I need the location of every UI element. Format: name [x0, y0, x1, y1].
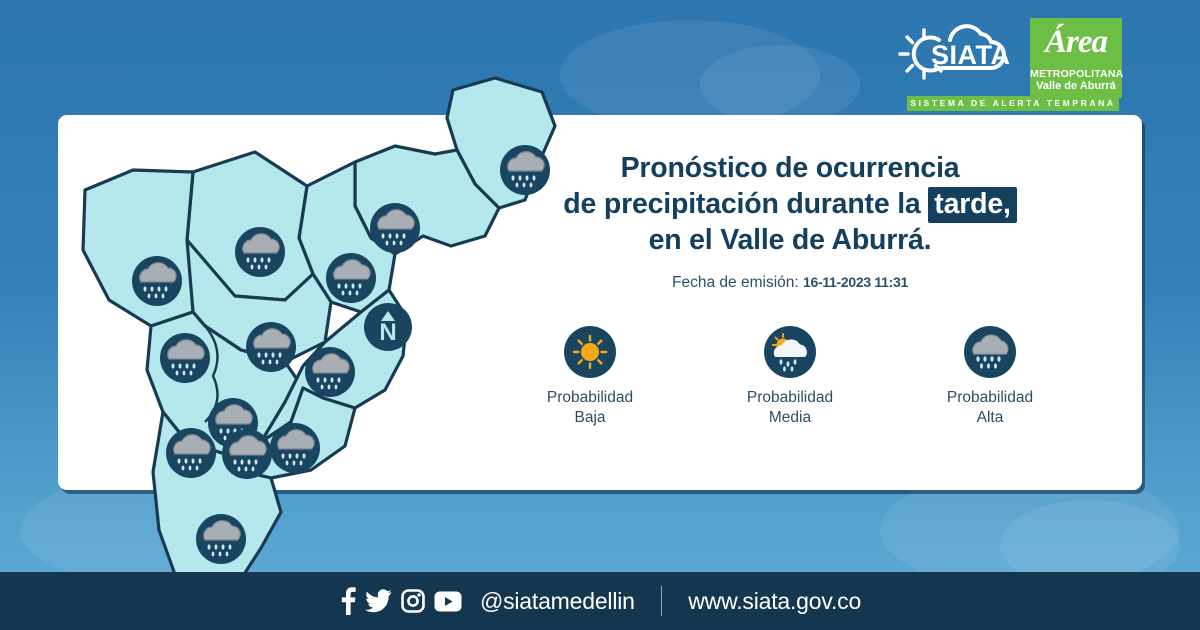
legend-label-baja: Probabilidad Baja	[500, 388, 680, 428]
title-line-1: Pronóstico de ocurrencia	[480, 150, 1100, 186]
cloud-rain-icon	[964, 326, 1016, 378]
legend-baja-line2: Baja	[500, 408, 680, 428]
sun-cloud-rain-icon	[764, 326, 816, 378]
title-line-2-text: de precipitación durante la	[563, 188, 920, 220]
facebook-icon[interactable]	[339, 587, 356, 615]
area-line2: Valle de Aburrá	[1030, 80, 1122, 92]
instagram-icon[interactable]	[401, 589, 425, 613]
headline-block: Pronóstico de ocurrencia de precipitació…	[480, 150, 1100, 292]
period-highlight: tarde,	[928, 187, 1016, 223]
page-title: Pronóstico de ocurrencia de precipitació…	[480, 150, 1100, 258]
legend-media-line1: Probabilidad	[700, 388, 880, 408]
probability-legend: Probabilidad Baja	[490, 326, 1090, 428]
area-script-text: Área	[1030, 20, 1122, 64]
social-handle[interactable]: @siatamedellin	[480, 588, 635, 615]
youtube-icon[interactable]	[434, 591, 462, 612]
title-line-3: en el Valle de Aburrá.	[480, 222, 1100, 258]
footer-divider	[661, 586, 663, 616]
legend-item-media: Probabilidad Media	[700, 326, 880, 428]
siata-logo: SIATA	[895, 22, 1035, 92]
footer-bar: @siatamedellin www.siata.gov.co	[0, 572, 1200, 630]
tagline-bar: SISTEMA DE ALERTA TEMPRANA	[907, 96, 1119, 111]
legend-media-line2: Media	[700, 408, 880, 428]
legend-label-media: Probabilidad Media	[700, 388, 880, 428]
map-marker-angelópolis	[196, 514, 246, 564]
background-cloud-icon	[700, 45, 860, 125]
legend-item-alta: Probabilidad Alta	[900, 326, 1080, 428]
infographic-root: SIATA Área METROPOLITANA Valle de Aburrá…	[0, 0, 1200, 630]
background-cloud-icon	[560, 20, 820, 130]
area-line1: METROPOLITANA	[1030, 68, 1122, 80]
sun-icon	[564, 326, 616, 378]
issue-date-value: 16-11-2023 11:31	[803, 274, 908, 290]
siata-wordmark: SIATA	[931, 40, 1011, 71]
issue-date-label: Fecha de emisión:	[672, 274, 799, 291]
legend-baja-line1: Probabilidad	[500, 388, 680, 408]
area-metropolitana-logo: Área METROPOLITANA Valle de Aburrá	[1030, 18, 1122, 98]
social-icon-group	[339, 587, 462, 615]
background-cloud-icon	[20, 480, 240, 580]
legend-alta-line2: Alta	[900, 408, 1080, 428]
legend-label-alta: Probabilidad Alta	[900, 388, 1080, 428]
legend-alta-line1: Probabilidad	[900, 388, 1080, 408]
website-url[interactable]: www.siata.gov.co	[688, 588, 861, 615]
twitter-icon[interactable]	[365, 589, 392, 613]
logo-group: SIATA Área METROPOLITANA Valle de Aburrá…	[895, 18, 1127, 110]
title-line-2: de precipitación durante la tarde,	[480, 186, 1100, 222]
issue-date-row: Fecha de emisión: 16-11-2023 11:31	[480, 274, 1100, 292]
legend-item-baja: Probabilidad Baja	[500, 326, 680, 428]
